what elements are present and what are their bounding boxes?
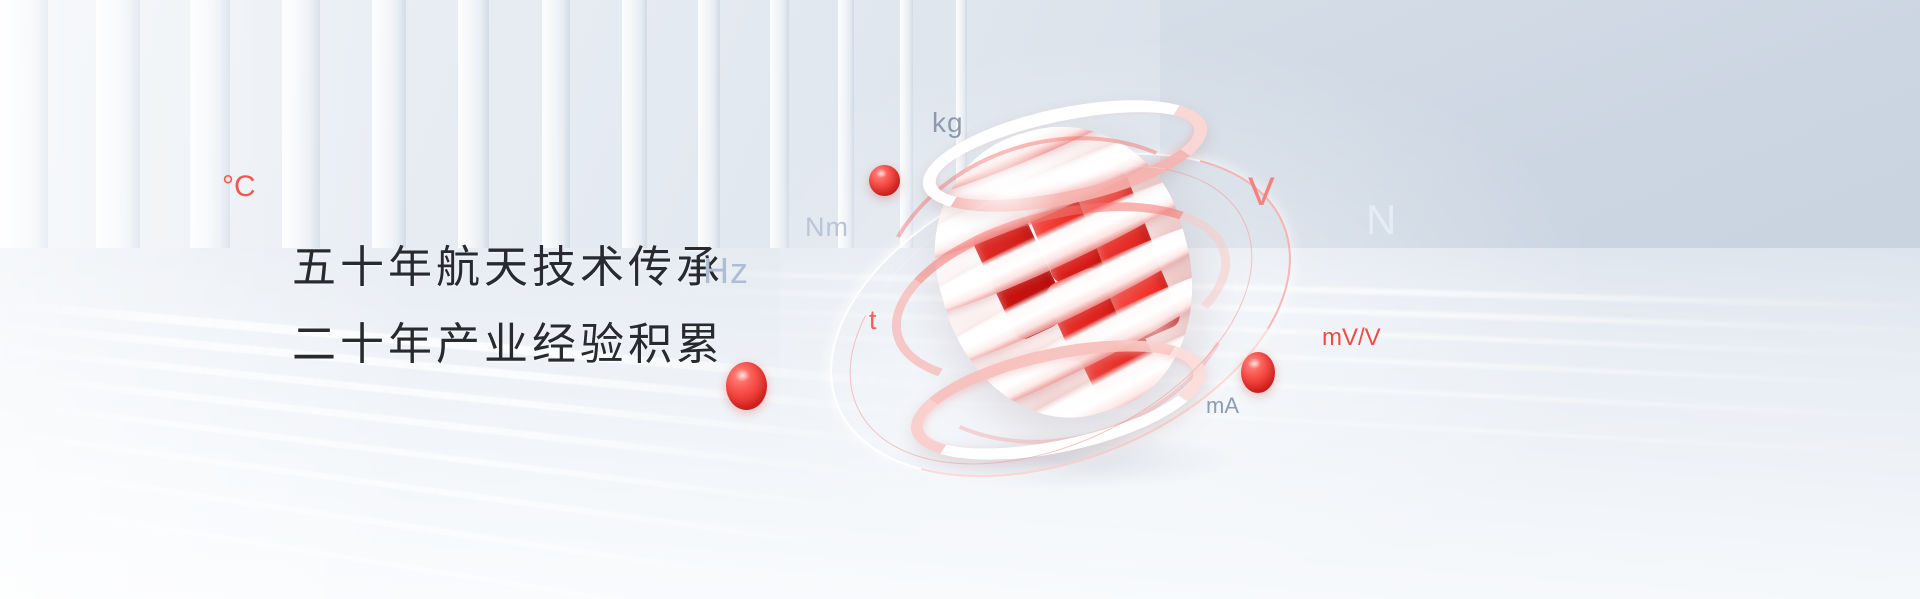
unit-label-volt: V <box>1248 170 1275 215</box>
hero-banner: 五十年航天技术传承 二十年产业经验积累 <box>0 0 1920 599</box>
page-title: 五十年航天技术传承 二十年产业经验积累 <box>292 238 724 375</box>
headline-line-1: 五十年航天技术传承 <box>292 238 724 298</box>
unit-label-newton: N <box>1366 196 1396 244</box>
unit-label-celsius: °C <box>222 170 256 204</box>
unit-label-newton-meter: Nm <box>805 212 849 243</box>
unit-label-tonne: t <box>869 305 877 336</box>
unit-label-kilogram: kg <box>932 107 964 139</box>
accent-sphere <box>869 165 900 196</box>
sphere-body <box>905 98 1225 446</box>
sensor-sphere-graphic <box>905 97 1225 447</box>
unit-label-millivolt-per-volt: mV/V <box>1322 324 1381 352</box>
unit-label-milliamp: mA <box>1206 393 1239 419</box>
back-wall-right <box>1160 0 1920 268</box>
accent-sphere <box>1241 352 1275 393</box>
headline-line-2: 二十年产业经验积累 <box>292 315 724 375</box>
unit-label-hertz: Hz <box>703 250 749 292</box>
accent-sphere <box>726 362 767 410</box>
